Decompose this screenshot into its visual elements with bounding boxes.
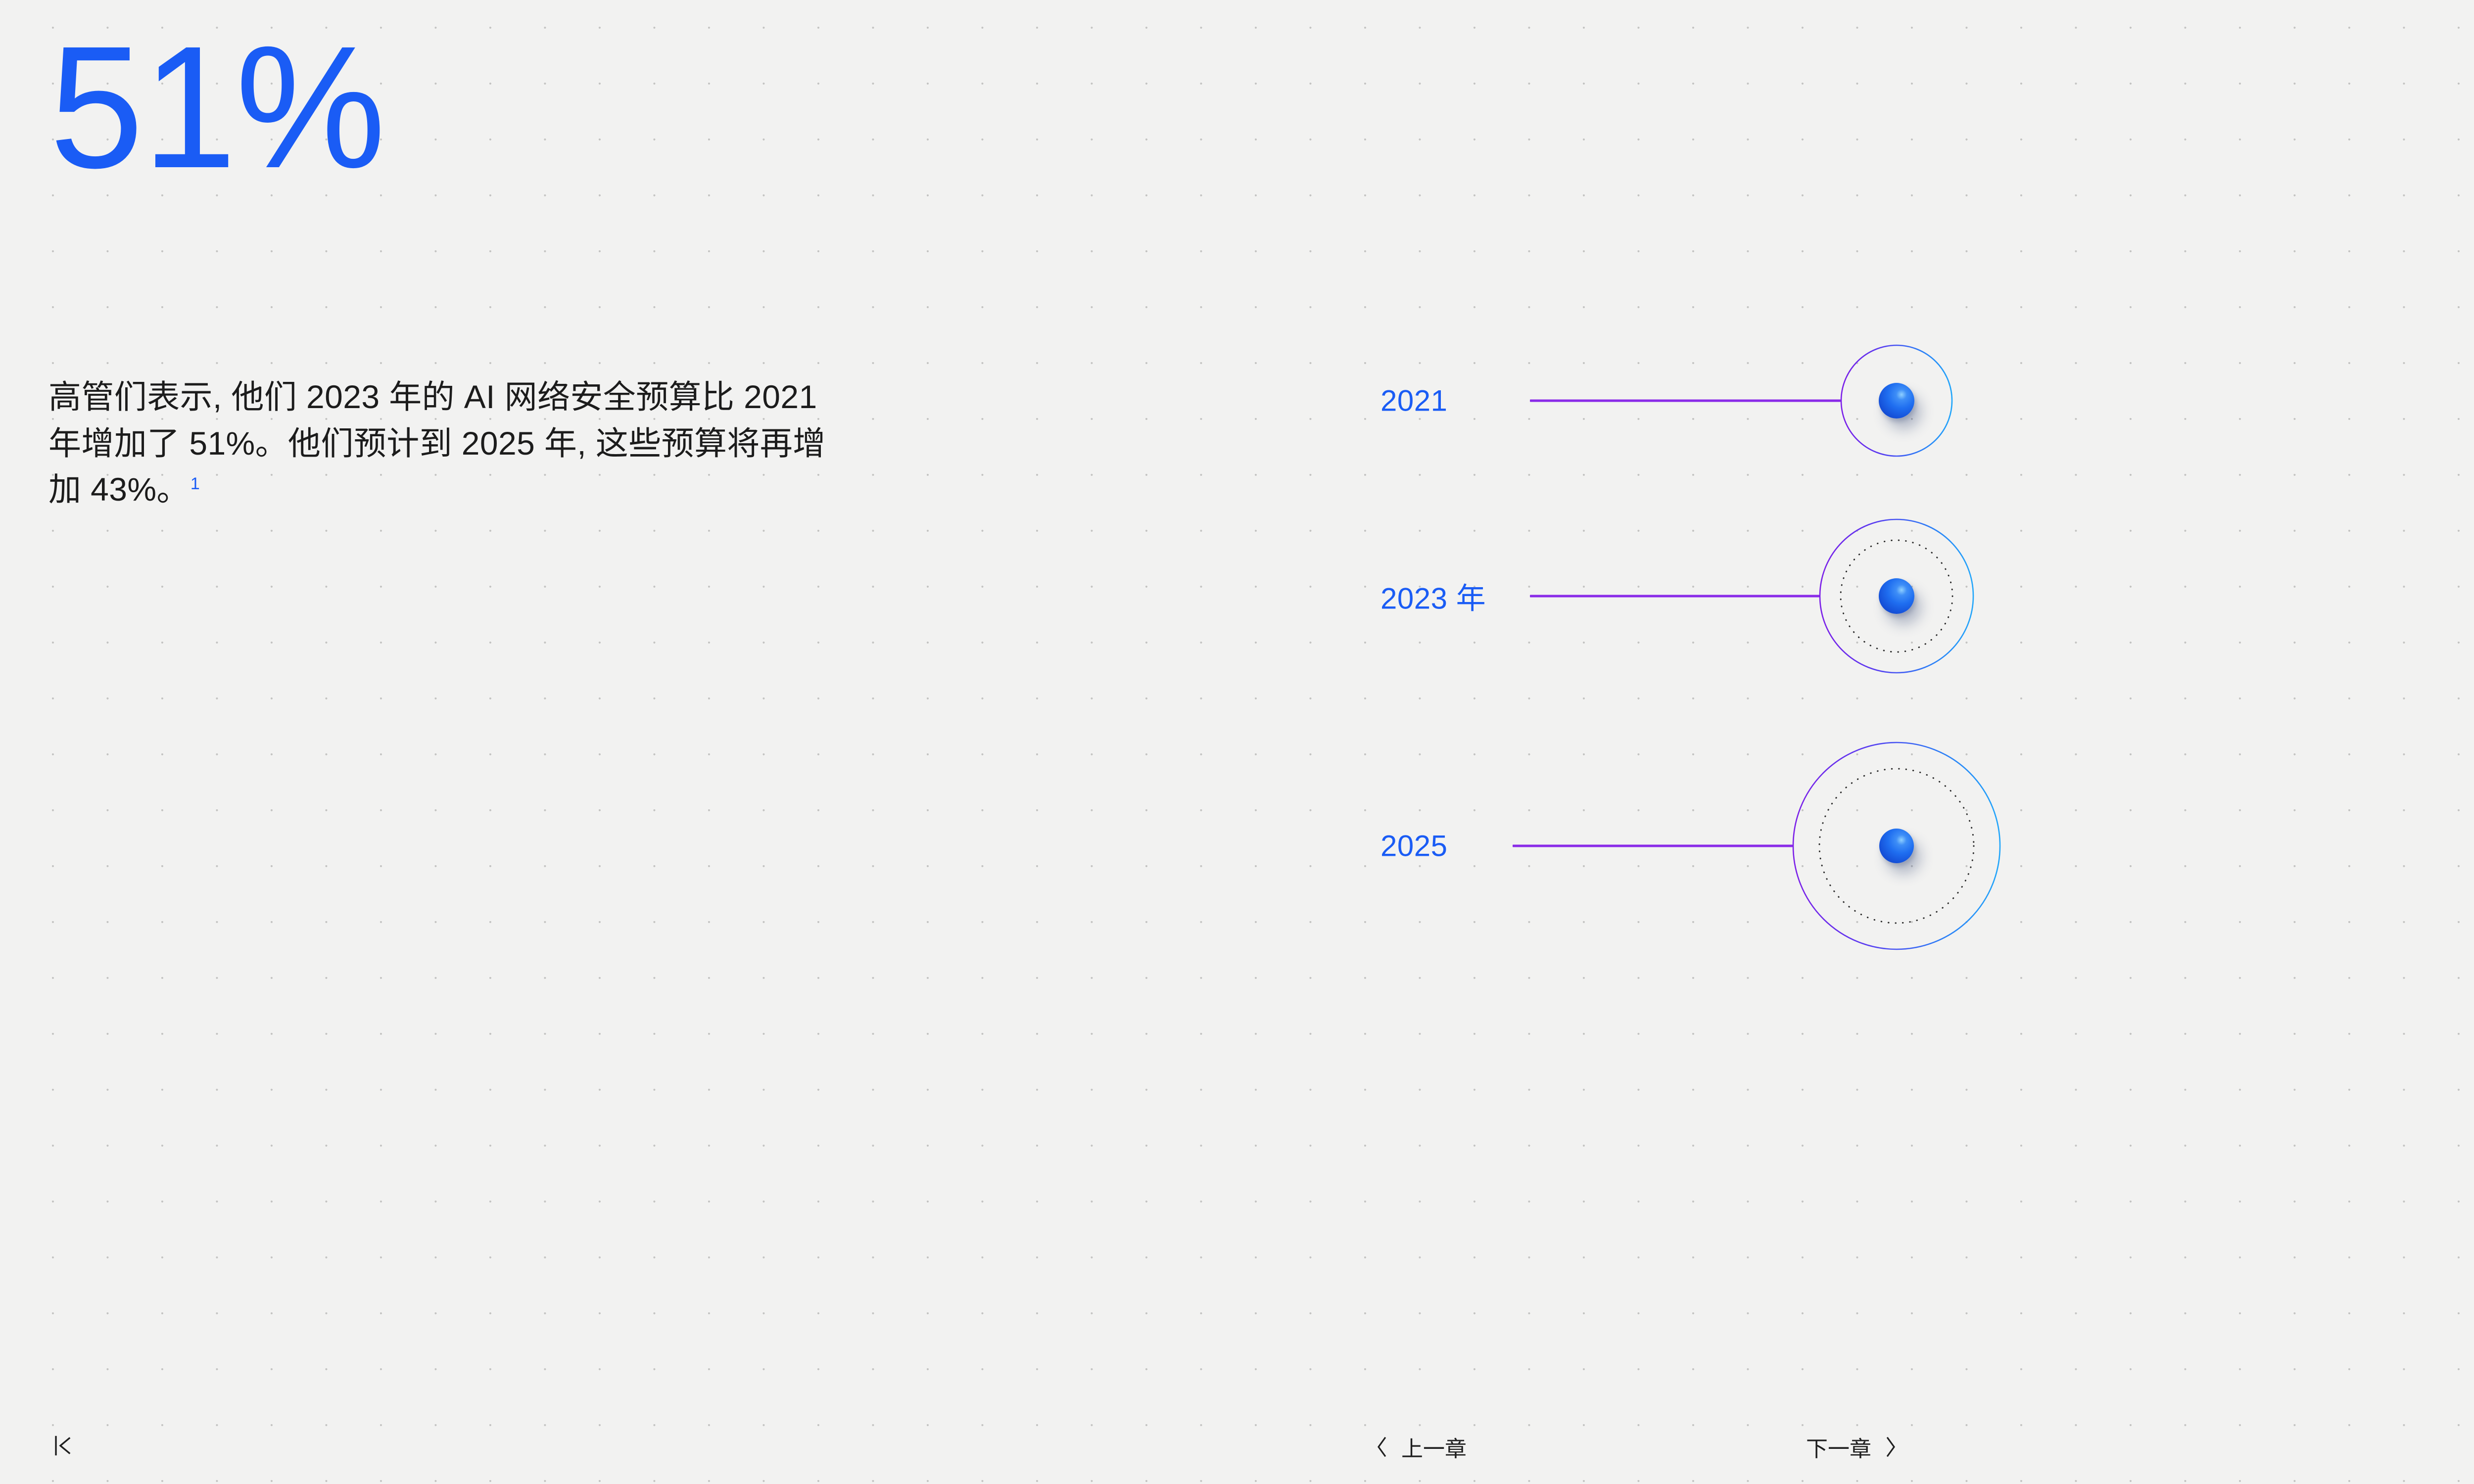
connector-line-2023 <box>1530 595 1819 598</box>
bubble-sphere-2021 <box>1879 383 1914 418</box>
prev-chapter-button[interactable]: 上一章 <box>1376 1431 1467 1463</box>
bubble-sphere-2025 <box>1879 829 1914 863</box>
bubble-label-2021: 2021 <box>1380 384 1447 418</box>
bubble-label-2025: 2025 <box>1380 829 1447 863</box>
connector-line-2025 <box>1513 845 1793 847</box>
prev-chapter-label: 上一章 <box>1401 1431 1467 1463</box>
bubble-sphere-2023 <box>1879 578 1914 614</box>
bubble-label-2023: 2023 年 <box>1380 575 1486 618</box>
connector-line-2021 <box>1530 400 1841 402</box>
chevron-right-icon <box>1884 1436 1897 1458</box>
skip-to-start-icon <box>53 1435 73 1457</box>
footnote-reference[interactable]: 1 <box>190 474 200 493</box>
left-content-column: 51% 高管们表示, 他们 2023 年的 AI 网络安全预算比 2021 年增… <box>48 0 889 1484</box>
bottom-navigation-bar: 上一章 下一章 8 <box>0 1410 2474 1484</box>
body-paragraph-text: 高管们表示, 他们 2023 年的 AI 网络安全预算比 2021 年增加了 5… <box>48 378 826 508</box>
bubble-diagram: 2021 2023 年 <box>1286 277 2474 1365</box>
headline-stat: 51% <box>49 20 385 194</box>
next-chapter-label: 下一章 <box>1806 1431 1871 1463</box>
body-paragraph: 高管们表示, 他们 2023 年的 AI 网络安全预算比 2021 年增加了 5… <box>48 374 855 513</box>
next-chapter-button[interactable]: 下一章 <box>1806 1431 1897 1463</box>
go-to-first-page-button[interactable] <box>53 1435 73 1460</box>
chevron-left-icon <box>1376 1436 1388 1458</box>
